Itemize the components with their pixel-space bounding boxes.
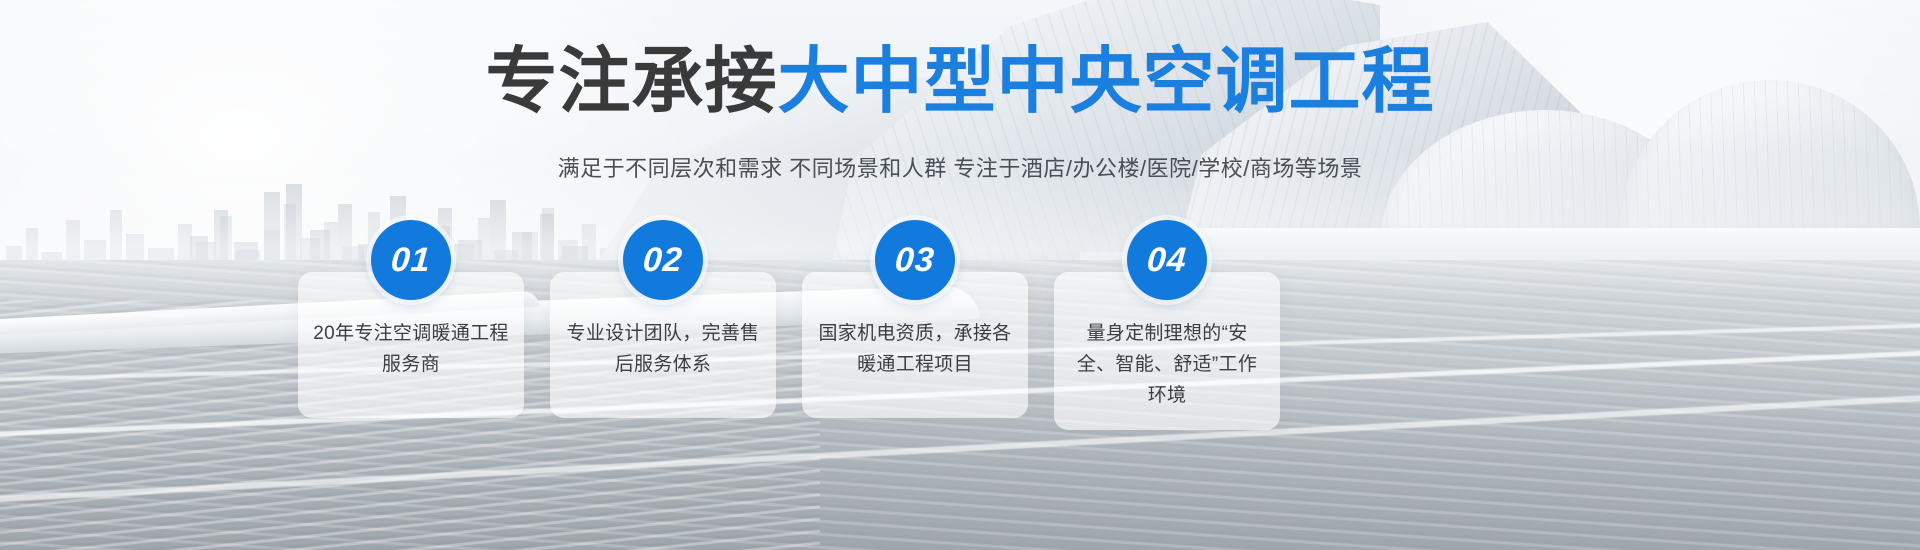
feature-card[interactable]: 02 专业设计团队，完善售后服务体系 [550, 272, 776, 418]
feature-card[interactable]: 03 国家机电资质，承接各暖通工程项目 [802, 272, 1028, 418]
banner-subheadline: 满足于不同层次和需求 不同场景和人群 专注于酒店/办公楼/医院/学校/商场等场景 [0, 154, 1920, 184]
banner-content: 专注承接大中型中央空调工程 满足于不同层次和需求 不同场景和人群 专注于酒店/办… [0, 0, 1920, 550]
feature-card[interactable]: 01 20年专注空调暖通工程服务商 [298, 272, 524, 418]
feature-badge-number: 04 [1146, 241, 1189, 280]
feature-badge-number: 03 [894, 241, 937, 280]
feature-card-text: 20年专注空调暖通工程服务商 [312, 318, 510, 380]
feature-badge: 03 [875, 220, 955, 300]
feature-badge: 01 [371, 220, 451, 300]
feature-card-text: 国家机电资质，承接各暖通工程项目 [816, 318, 1014, 380]
headline-dark-text: 专注承接 [485, 42, 777, 122]
feature-badge: 02 [623, 220, 703, 300]
feature-badge-number: 01 [390, 241, 433, 280]
feature-badge: 04 [1127, 220, 1207, 300]
feature-card-text: 专业设计团队，完善售后服务体系 [564, 318, 762, 380]
feature-card-list: 01 20年专注空调暖通工程服务商 02 专业设计团队，完善售后服务体系 03 … [298, 272, 1530, 432]
feature-badge-number: 02 [642, 241, 685, 280]
banner-headline: 专注承接大中型中央空调工程 [0, 44, 1920, 120]
headline-accent-text: 大中型中央空调工程 [778, 42, 1435, 122]
hero-banner: 专注承接大中型中央空调工程 满足于不同层次和需求 不同场景和人群 专注于酒店/办… [0, 0, 1920, 550]
feature-card-text: 量身定制理想的“安全、智能、舒适”工作环境 [1068, 318, 1266, 411]
feature-card[interactable]: 04 量身定制理想的“安全、智能、舒适”工作环境 [1054, 272, 1280, 430]
